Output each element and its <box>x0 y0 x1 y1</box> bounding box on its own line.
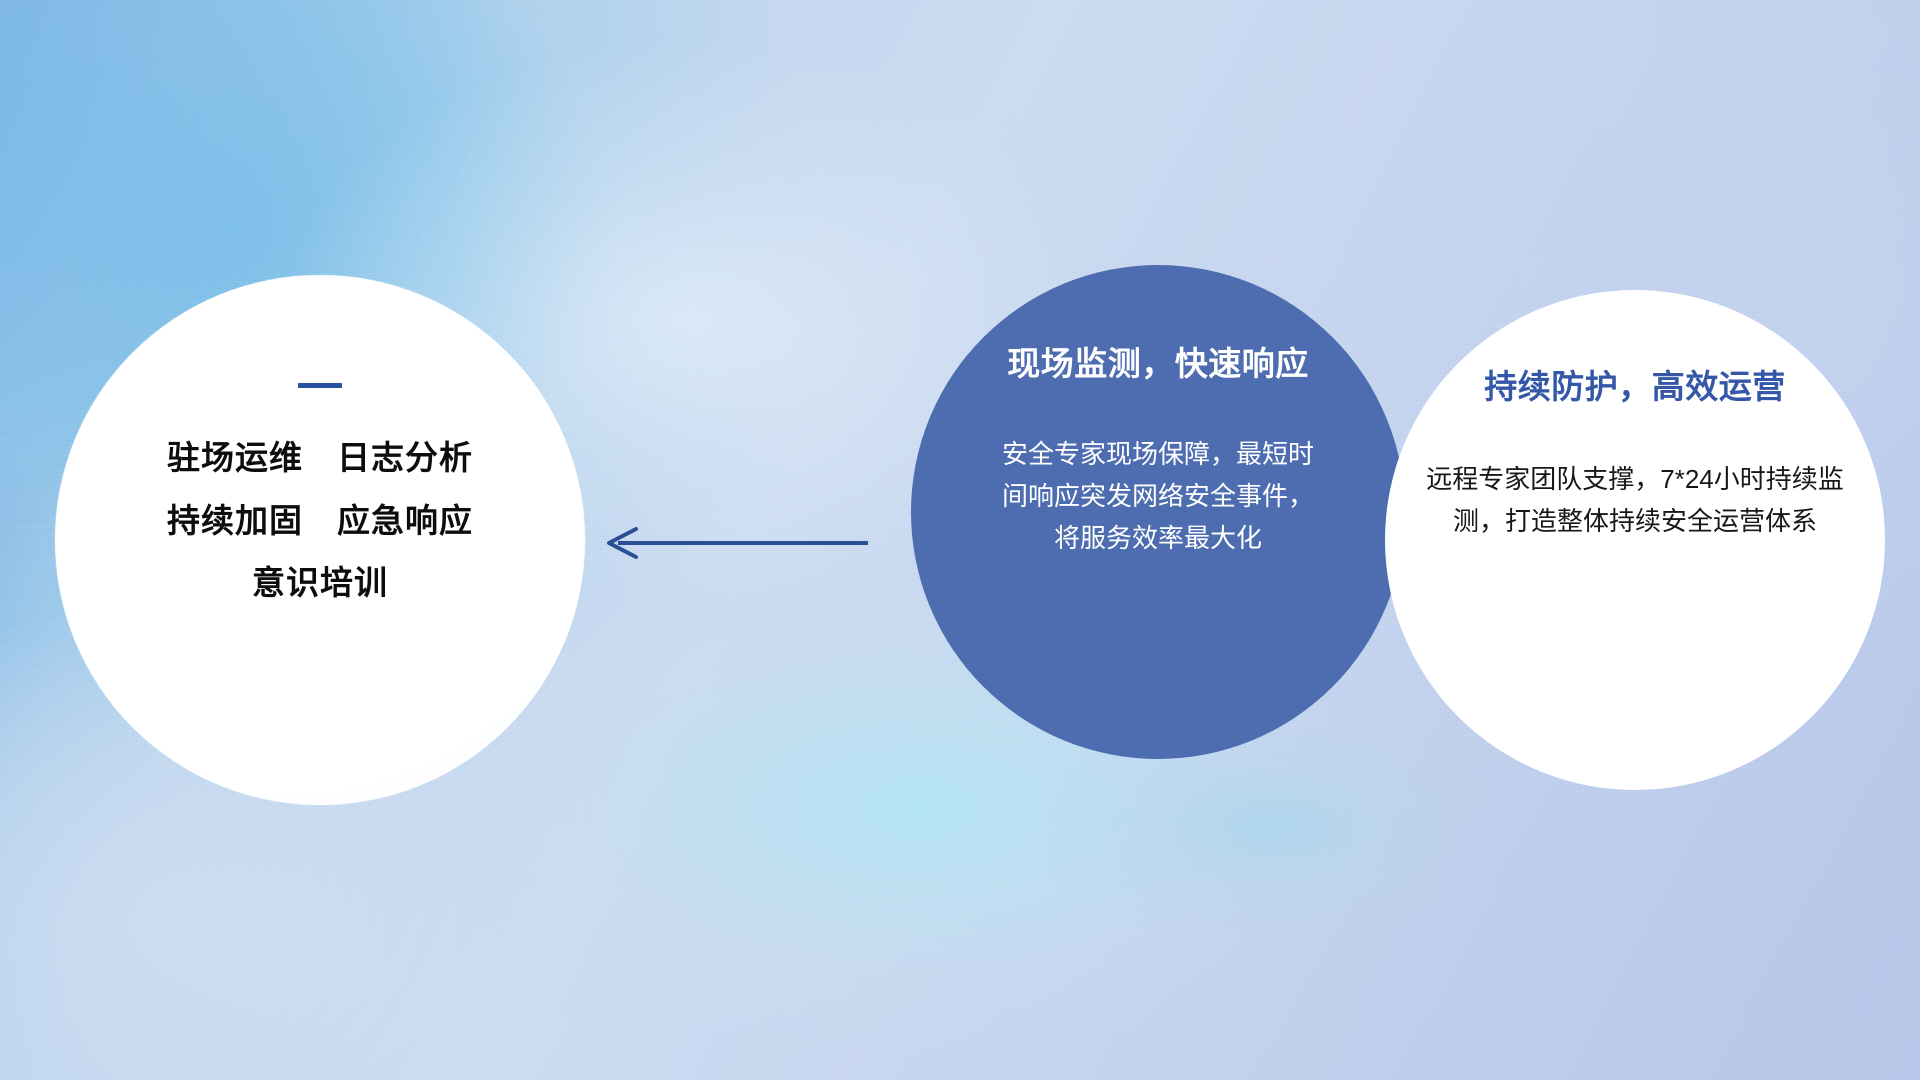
slide-canvas: 驻场运维 日志分析 持续加固 应急响应 意识培训 现场监测，快速响应 安全专家现… <box>0 0 1920 1080</box>
flow-arrow-left-icon <box>590 512 880 574</box>
onsite-monitoring-body: 安全专家现场保障，最短时间响应突发网络安全事件，将服务效率最大化 <box>999 433 1317 559</box>
continuous-protection-circle[interactable]: 持续防护，高效运营 远程专家团队支撑，7*24小时持续监测，打造整体持续安全运营… <box>1385 290 1885 790</box>
onsite-monitoring-circle[interactable]: 现场监测，快速响应 安全专家现场保障，最短时间响应突发网络安全事件，将服务效率最… <box>911 265 1405 759</box>
onsite-monitoring-content: 现场监测，快速响应 安全专家现场保障，最短时间响应突发网络安全事件，将服务效率最… <box>911 265 1405 759</box>
continuous-protection-body: 远程专家团队支撑，7*24小时持续监测，打造整体持续安全运营体系 <box>1425 458 1845 542</box>
capability-row-2: 持续加固 应急响应 <box>167 503 473 539</box>
capability-circle[interactable]: 驻场运维 日志分析 持续加固 应急响应 意识培训 <box>55 275 585 805</box>
capability-row-3: 意识培训 <box>252 565 388 601</box>
capability-circle-content: 驻场运维 日志分析 持续加固 应急响应 意识培训 <box>55 275 585 805</box>
onsite-monitoring-title: 现场监测，快速响应 <box>1007 337 1309 385</box>
dash-accent-icon <box>298 383 342 388</box>
continuous-protection-content: 持续防护，高效运营 远程专家团队支撑，7*24小时持续监测，打造整体持续安全运营… <box>1385 290 1885 790</box>
capability-row-1: 驻场运维 日志分析 <box>167 440 473 476</box>
continuous-protection-title: 持续防护，高效运营 <box>1484 360 1786 408</box>
